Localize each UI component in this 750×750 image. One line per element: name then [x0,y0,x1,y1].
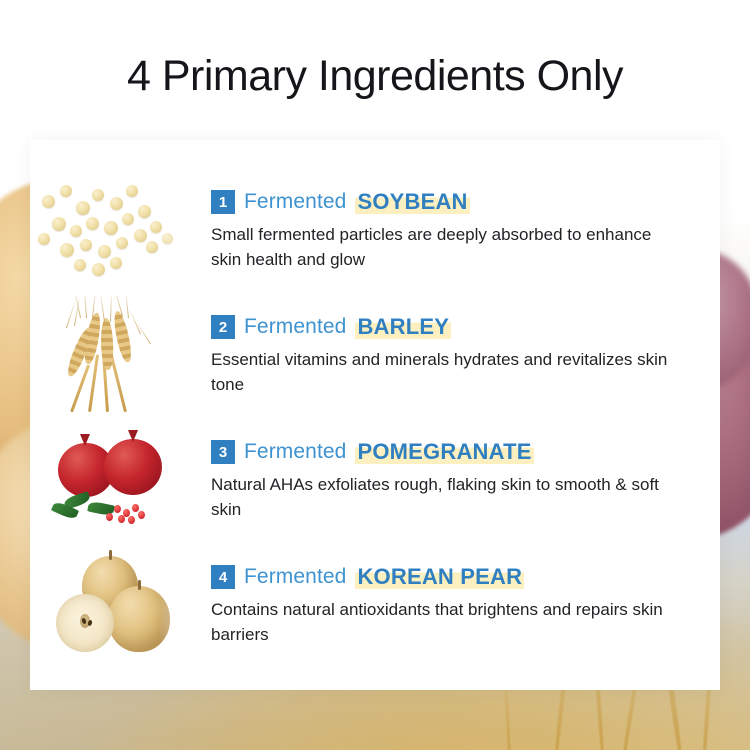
korean-pear-heading: 4 Fermented KOREAN PEAR [211,563,720,592]
ingredient-row-pomegranate: 3 Fermented POMEGRANATE Natural AHAs exf… [30,420,720,540]
soybean-image [30,171,205,289]
barley-name: BARLEY [355,314,451,340]
korean-pear-content: 4 Fermented KOREAN PEAR Contains natural… [205,563,720,647]
barley-prefix: Fermented [244,315,346,339]
pomegranate-content: 3 Fermented POMEGRANATE Natural AHAs exf… [205,438,720,522]
soybean-prefix: Fermented [244,190,346,214]
page-title: 4 Primary Ingredients Only [0,52,750,101]
barley-number-badge: 2 [211,315,235,339]
pomegranate-prefix: Fermented [244,440,346,464]
korean-pear-image [30,546,205,664]
pomegranate-heading: 3 Fermented POMEGRANATE [211,438,720,467]
pomegranate-number-badge: 3 [211,440,235,464]
korean-pear-description: Contains natural antioxidants that brigh… [211,598,681,647]
pomegranate-image [30,421,205,539]
korean-pear-number-badge: 4 [211,565,235,589]
ingredient-row-soybean: 1 Fermented SOYBEAN Small fermented part… [30,170,720,290]
soybean-number-badge: 1 [211,190,235,214]
ingredient-row-barley: 2 Fermented BARLEY Essential vitamins an… [30,295,720,415]
soybean-name: SOYBEAN [355,189,469,215]
barley-content: 2 Fermented BARLEY Essential vitamins an… [205,313,720,397]
barley-description: Essential vitamins and minerals hydrates… [211,348,681,397]
ingredients-infographic: 4 Primary Ingredients Only [0,0,750,750]
soybean-heading: 1 Fermented SOYBEAN [211,188,720,217]
barley-heading: 2 Fermented BARLEY [211,313,720,342]
ingredient-row-korean-pear: 4 Fermented KOREAN PEAR Contains natural… [30,545,720,665]
korean-pear-prefix: Fermented [244,565,346,589]
barley-image [30,296,205,414]
pomegranate-description: Natural AHAs exfoliates rough, flaking s… [211,473,681,522]
soybean-description: Small fermented particles are deeply abs… [211,223,681,272]
pomegranate-name: POMEGRANATE [355,439,533,465]
korean-pear-name: KOREAN PEAR [355,564,524,590]
soybean-content: 1 Fermented SOYBEAN Small fermented part… [205,188,720,272]
